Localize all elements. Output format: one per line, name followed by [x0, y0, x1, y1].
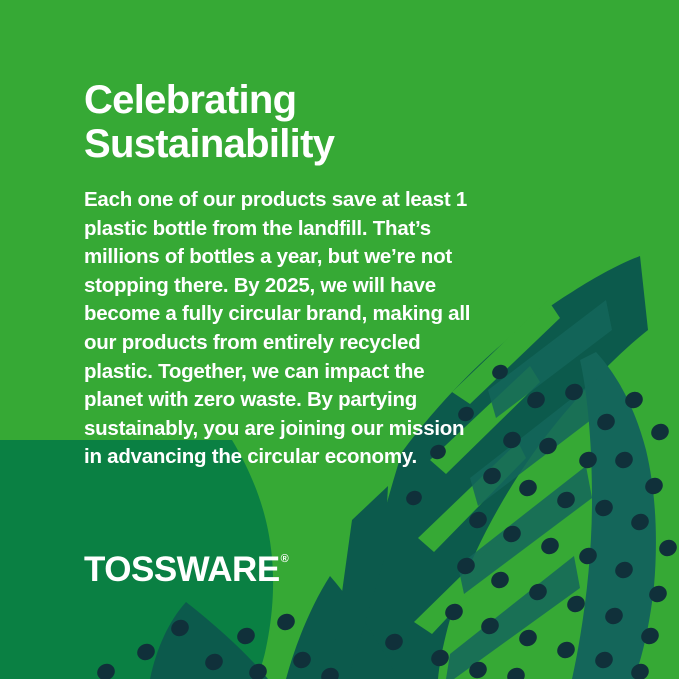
- body-paragraph: Each one of our products save at least 1…: [84, 186, 484, 472]
- page-title: Celebrating Sustainability: [84, 78, 504, 166]
- brand-logo: TOSSWARE ®: [84, 552, 289, 587]
- registered-trademark-icon: ®: [281, 554, 289, 565]
- poster-content: Celebrating Sustainability Each one of o…: [0, 0, 679, 679]
- brand-wordmark: TOSSWARE: [84, 552, 280, 587]
- poster-canvas: Celebrating Sustainability Each one of o…: [0, 0, 679, 679]
